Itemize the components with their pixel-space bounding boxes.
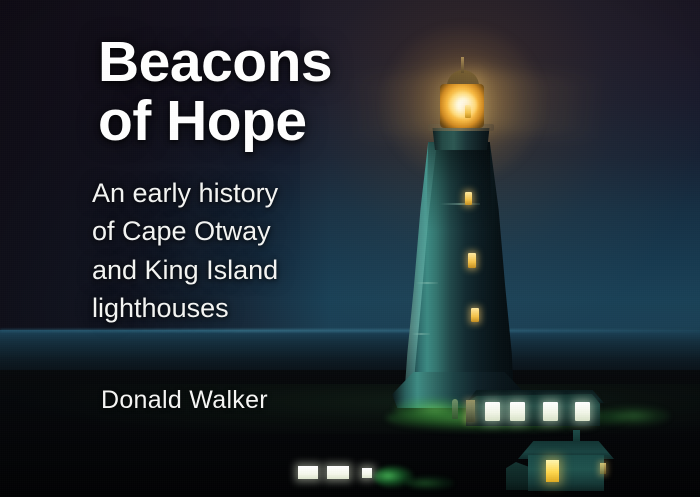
foreground-window xyxy=(327,466,349,479)
quarters-door xyxy=(466,400,475,422)
foreground-window xyxy=(298,466,318,479)
cottage-window xyxy=(546,460,559,482)
book-cover: Beacons of Hope An early history of Cape… xyxy=(0,0,700,497)
quarters-window xyxy=(485,402,500,421)
subtitle-line-4: lighthouses xyxy=(92,289,392,327)
lit-grass xyxy=(596,406,670,426)
subtitle-line-2: of Cape Otway xyxy=(92,212,392,250)
lantern-finial xyxy=(461,57,464,73)
horizon-line xyxy=(0,329,700,332)
book-title: Beacons of Hope xyxy=(98,33,418,150)
lit-grass xyxy=(394,398,474,420)
cottage-side-window xyxy=(600,463,606,474)
tower-window xyxy=(471,308,479,322)
lamp-light-core xyxy=(449,92,477,118)
cottage xyxy=(528,455,604,491)
book-author: Donald Walker xyxy=(101,386,268,415)
subtitle-line-3: and King Island xyxy=(92,251,392,289)
foreground-window xyxy=(362,468,372,478)
foreground-green-glow xyxy=(406,476,454,490)
figure-silhouette xyxy=(452,399,458,419)
quarters-window xyxy=(510,402,525,421)
tower-window xyxy=(465,105,471,118)
title-line-1: Beacons xyxy=(98,33,418,92)
book-subtitle: An early history of Cape Otway and King … xyxy=(92,174,392,327)
tower-window xyxy=(465,192,472,205)
tower-window xyxy=(468,253,476,268)
quarters-window xyxy=(575,402,590,421)
title-line-2: of Hope xyxy=(98,92,418,151)
quarters-window xyxy=(543,402,558,421)
tower-band xyxy=(416,282,438,284)
subtitle-line-1: An early history xyxy=(92,174,392,212)
lighthouse-gallery xyxy=(430,128,492,150)
cottage-shed xyxy=(506,462,528,490)
tower-band xyxy=(412,333,430,335)
tower-band xyxy=(440,203,480,205)
